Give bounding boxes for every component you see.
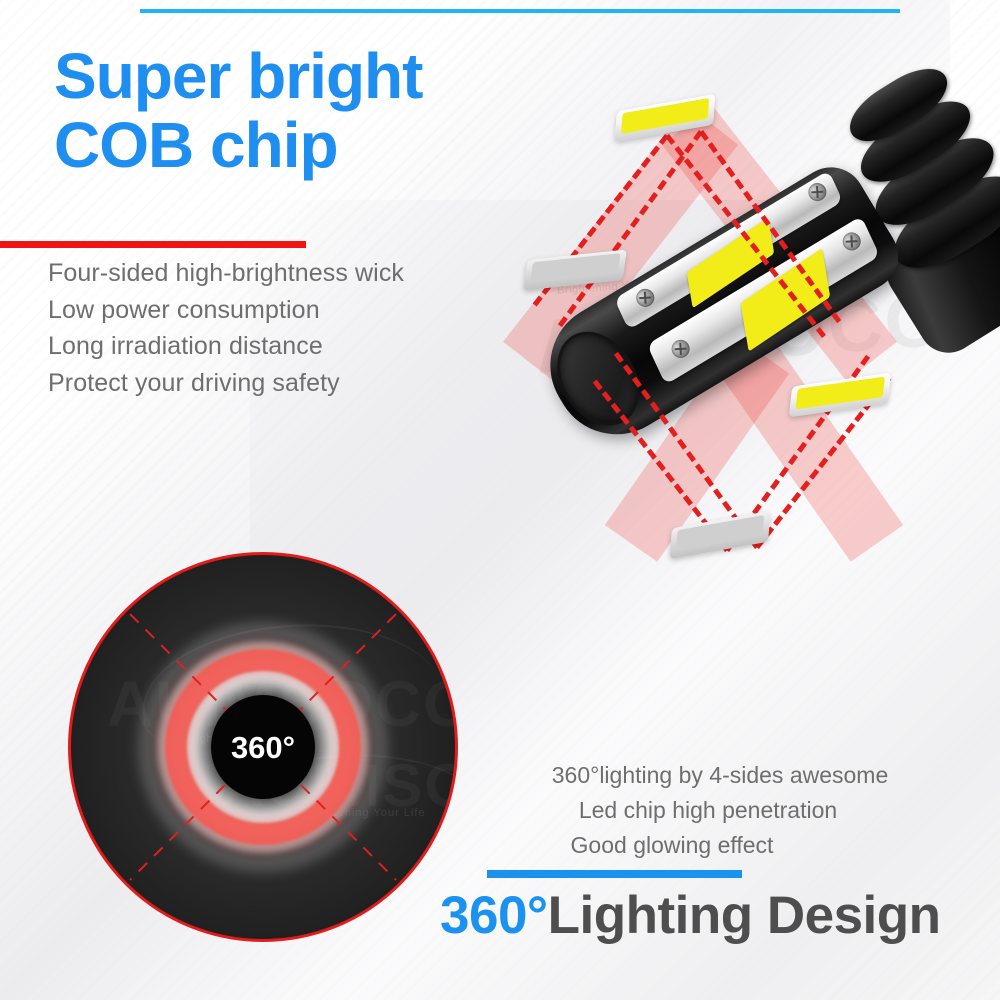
cob-chip-exploded-right (789, 373, 891, 418)
bottom-section-title: 360°Lighting Design (440, 885, 941, 946)
cob-chip-face (676, 515, 764, 551)
blue-divider-rule (487, 870, 742, 878)
bottom-title-accent: 360° (440, 886, 548, 945)
list-item: Four-sided high-brightness wick (48, 255, 478, 292)
list-item: Long irradiation distance (48, 328, 478, 365)
bottom-title-rest: Lighting Design (548, 886, 941, 945)
list-item: Protect your driving safety (48, 365, 478, 402)
list-item: Led chip high penetration (500, 793, 940, 828)
center-badge-label: 360° (231, 732, 295, 763)
top-accent-rule (140, 9, 900, 13)
list-item: 360°lighting by 4-sides awesome (500, 758, 940, 793)
list-item: Good glowing effect (500, 828, 940, 863)
cob-chip-face (530, 253, 620, 283)
bottom-feature-list: 360°lighting by 4-sides awesome Led chip… (500, 758, 940, 863)
center-badge: 360° (211, 695, 315, 799)
diagram-disc: AUIMSOCO AUIMSOCO Brightening Your Life … (68, 552, 458, 942)
led-bulb-product-image: AUMSOCO Brightening Your Life (505, 55, 1000, 595)
cob-chip-face (796, 377, 885, 410)
red-divider-rule (0, 241, 306, 248)
list-item: Low power consumption (48, 292, 478, 329)
360-lighting-diagram: AUIMSOCO AUIMSOCO Brightening Your Life … (68, 552, 458, 942)
product-marketing-banner: Super bright COB chip Four-sided high-br… (0, 0, 1000, 1000)
feature-list: Four-sided high-brightness wick Low powe… (48, 255, 478, 401)
